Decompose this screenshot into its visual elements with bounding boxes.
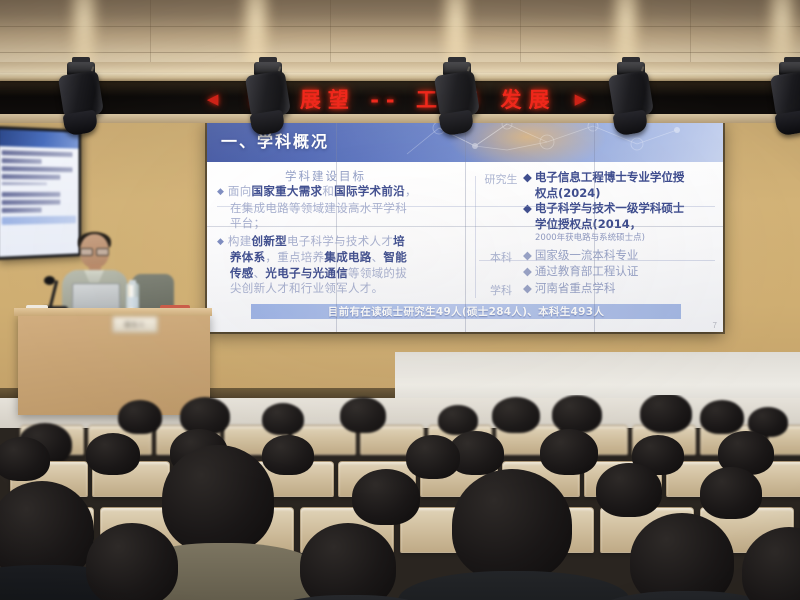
stage-spotlight (608, 62, 654, 136)
table-row: 学科 ◆ 河南省重点学科 (479, 281, 717, 298)
audience-head (640, 395, 692, 433)
bullet-line: 养体系，重点培养集成电路、智能 (230, 250, 475, 266)
audience-head (452, 469, 572, 581)
table-item-small: 2000年获电路与系统硕士点) (535, 232, 717, 245)
bullet-line: 在集成电路等领域建设高水平学科 (230, 201, 475, 217)
slide-right-table: 研究生 ◆ 电子信息工程博士专业学位授 权点(2024) ◆ 电子科学与技术一级… (479, 170, 717, 298)
table-item-text: 电子科学与技术一级学科硕士 (535, 201, 685, 217)
table-item: ◆ 国家级一流本科专业 (523, 248, 717, 264)
ceiling (0, 0, 800, 78)
stage-spotlight (434, 62, 480, 136)
table-item-text: 河南省重点学科 (535, 281, 616, 297)
led-banner-visible-text: IT 展望 -- 工 与 发展 (249, 84, 556, 114)
bullet-item: ◆ 构建创新型电子科学与技术人才培 (217, 234, 475, 250)
diamond-bullet-icon: ◆ (523, 281, 532, 297)
led-banner-text: ◀ IT 展望 -- 工 与 发展 ▶ (0, 81, 800, 117)
audience-head (162, 445, 274, 553)
diamond-bullet-icon: ◆ (217, 184, 224, 199)
bullet-line: 面向国家重大需求和国际学术前沿， (228, 184, 417, 200)
table-item-cont: 学位授权点(2014， (535, 217, 717, 233)
audience-head (596, 463, 662, 517)
main-video-wall-display: 一、学科概况 学科建设目标 ◆ 面向国家重大需求和国际学术前沿， 在集成电路等领… (207, 120, 723, 332)
audience-head (352, 469, 420, 525)
bullet-line: 尖创新人才和行业领军人才。 (230, 281, 475, 297)
stage-spotlight (58, 62, 104, 136)
audience-head (340, 397, 386, 433)
audience-head (552, 395, 602, 433)
audience-head (262, 403, 304, 435)
table-item-cont: 权点(2024) (535, 186, 717, 202)
audience-head (86, 523, 178, 600)
lecture-hall-photo: ◀ IT 展望 -- 工 与 发展 ▶ (0, 0, 800, 600)
bullet-item: ◆ 面向国家重大需求和国际学术前沿， (217, 184, 475, 200)
table-item: ◆ 电子科学与技术一级学科硕士 (523, 201, 717, 217)
table-row-cell: ◆ 国家级一流本科专业 ◆ 通过教育部工程认证 (523, 248, 717, 279)
bullet-line: 平台； (230, 216, 475, 232)
table-divider (217, 206, 715, 207)
table-item-text: 电子信息工程博士专业学位授 (535, 170, 685, 186)
audience-head (118, 400, 162, 434)
audience-head (262, 435, 314, 475)
audience-head (300, 523, 396, 600)
video-wall-seam (207, 226, 723, 227)
slide-bottom-banner: 目前有在读硕士研究生49人(硕士284人)、本科生493人 (251, 304, 681, 319)
diamond-bullet-icon: ◆ (523, 264, 532, 280)
audience-area (0, 395, 800, 600)
table-item: ◆ 河南省重点学科 (523, 281, 717, 297)
slide-left-column: ◆ 面向国家重大需求和国际学术前沿， 在集成电路等领域建设高水平学科 平台； ◆… (217, 184, 475, 297)
table-row-label: 本科 (479, 248, 523, 265)
table-item-text: 通过教育部工程认证 (535, 264, 639, 280)
table-row-label: 研究生 (479, 170, 523, 187)
side-monitor-banner (2, 216, 76, 225)
diamond-bullet-icon: ◆ (523, 170, 532, 186)
table-item: ◆ 电子信息工程博士专业学位授 (523, 170, 717, 186)
bullet-line: 传感、光电子与光通信等领域的拔 (230, 266, 475, 282)
audience-head (700, 400, 744, 434)
diamond-bullet-icon: ◆ (523, 201, 532, 217)
table-row: 研究生 ◆ 电子信息工程博士专业学位授 权点(2024) ◆ 电子科学与技术一级… (479, 170, 717, 245)
table-item-text: 国家级一流本科专业 (535, 248, 639, 264)
eyeglasses-icon (80, 248, 109, 254)
stage-spotlight (770, 62, 800, 136)
table-row: 本科 ◆ 国家级一流本科专业 ◆ 通过教育部工程认证 (479, 248, 717, 279)
table-row-cell: ◆ 电子信息工程博士专业学位授 权点(2024) ◆ 电子科学与技术一级学科硕士… (523, 170, 717, 245)
audience-head (540, 429, 598, 475)
table-divider (475, 176, 476, 298)
presenter-nameplate: 报告人 (112, 316, 158, 333)
audience-head (700, 467, 762, 519)
side-display-monitor (0, 126, 81, 260)
diamond-bullet-icon: ◆ (217, 234, 224, 249)
audience-head (630, 513, 734, 600)
bullet-line: 构建创新型电子科学与技术人才培 (228, 234, 405, 250)
diamond-bullet-icon: ◆ (523, 248, 532, 264)
podium-desktop (14, 308, 212, 316)
table-row-cell: ◆ 河南省重点学科 (523, 281, 717, 297)
audience-head (492, 397, 540, 433)
stage-spotlight (245, 62, 291, 136)
slide-page-number: 7 (713, 321, 717, 330)
table-divider (479, 260, 715, 261)
table-item: ◆ 通过教育部工程认证 (523, 264, 717, 280)
audience-head (406, 435, 460, 479)
table-row-label: 学科 (479, 281, 523, 298)
led-scrolling-banner: ◀ IT 展望 -- 工 与 发展 ▶ (0, 80, 800, 117)
lighting-truss-bar (0, 73, 800, 81)
led-left-arrow-icon: ◀ (207, 90, 226, 108)
audience-shoulders (398, 571, 630, 600)
side-monitor-content (0, 146, 79, 257)
audience-head (86, 433, 140, 475)
led-right-arrow-icon: ▶ (575, 90, 594, 108)
audience-head (0, 437, 50, 481)
